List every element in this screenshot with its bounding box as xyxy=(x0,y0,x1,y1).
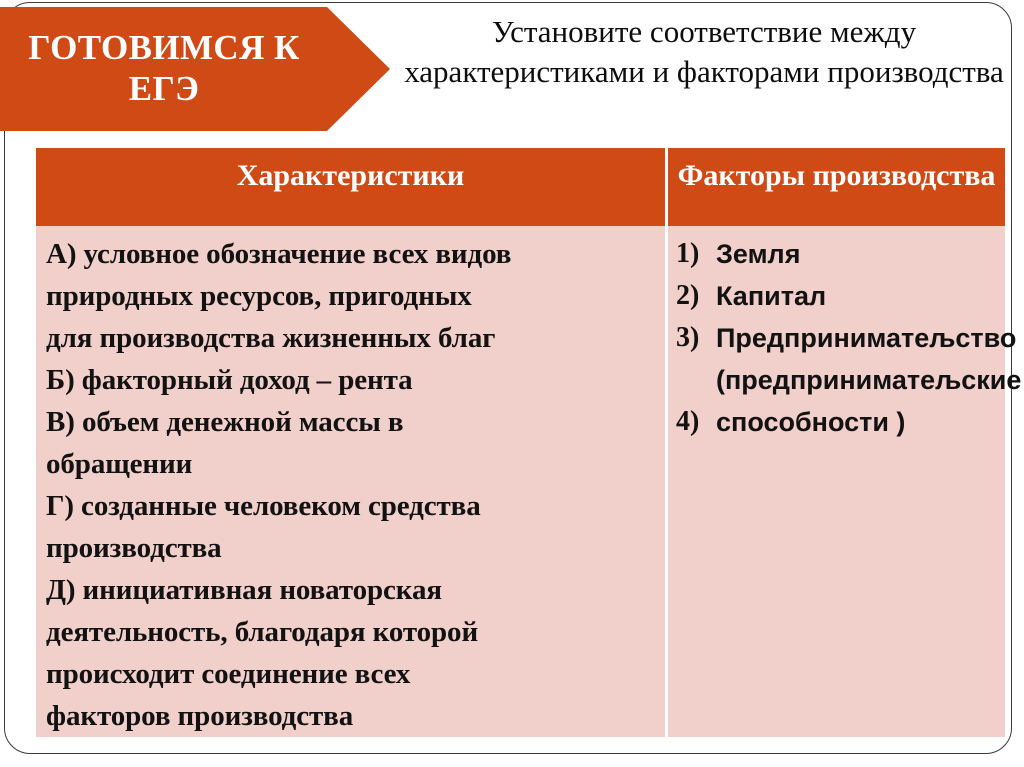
factors-list: 1)Земля2)Капитал3)Предприниматељство (пр… xyxy=(676,233,1001,443)
characteristics-list: А) условное обозначение всех видовприрод… xyxy=(46,233,661,737)
table-header-factors: Факторы производства xyxy=(665,148,1005,226)
characteristic-line: Д) инициативная новаторская xyxy=(46,569,661,611)
page-title: Установите соответствие между характерис… xyxy=(404,12,1004,92)
characteristics-cell: А) условное обозначение всех видовприрод… xyxy=(36,226,665,737)
factor-item: 3)Предприниматељство (предприниматељские xyxy=(676,317,1001,401)
characteristic-line: деятельность, благодаря которой xyxy=(46,611,661,653)
characteristic-line: факторов производства xyxy=(46,695,661,737)
factor-label: Земля xyxy=(716,233,1001,275)
characteristic-line: В) объем денежной массы в xyxy=(46,401,661,443)
characteristic-line: для производства жизненных благ xyxy=(46,317,661,359)
characteristic-line: производства xyxy=(46,527,661,569)
slide-canvas: ГОТОВИМСЯ К ЕГЭ Установите соответствие … xyxy=(0,0,1024,767)
characteristic-line: Б) факторный доход – рента xyxy=(46,359,661,401)
factor-number: 4) xyxy=(676,401,716,443)
matching-table: Характеристики Факторы производства А) у… xyxy=(36,148,1005,737)
characteristic-line: природных ресурсов, пригодных xyxy=(46,275,661,317)
factor-item: 2)Капитал xyxy=(676,275,1001,317)
factor-label: способности ) xyxy=(716,401,1001,443)
factor-label: Предприниматељство (предприниматељские xyxy=(716,317,1021,401)
table-body-row: А) условное обозначение всех видовприрод… xyxy=(36,226,1005,737)
factor-number: 2) xyxy=(676,275,716,317)
factor-item: 4)способности ) xyxy=(676,401,1001,443)
factors-cell: 1)Земля2)Капитал3)Предприниматељство (пр… xyxy=(665,226,1005,737)
factor-number: 1) xyxy=(676,233,716,275)
characteristic-line: Г) созданные человеком средства xyxy=(46,485,661,527)
factor-number: 3) xyxy=(676,317,716,359)
characteristic-line: происходит соединение всех xyxy=(46,653,661,695)
exam-prep-arrow-banner: ГОТОВИМСЯ К ЕГЭ xyxy=(0,7,390,131)
characteristic-line: А) условное обозначение всех видов xyxy=(46,233,661,275)
table-header-row: Характеристики Факторы производства xyxy=(36,148,1005,226)
factor-label: Капитал xyxy=(716,275,1001,317)
characteristic-line: обращении xyxy=(46,443,661,485)
arrow-banner-label: ГОТОВИМСЯ К ЕГЭ xyxy=(14,28,314,109)
factor-item: 1)Земля xyxy=(676,233,1001,275)
table-header-characteristics: Характеристики xyxy=(36,148,665,226)
